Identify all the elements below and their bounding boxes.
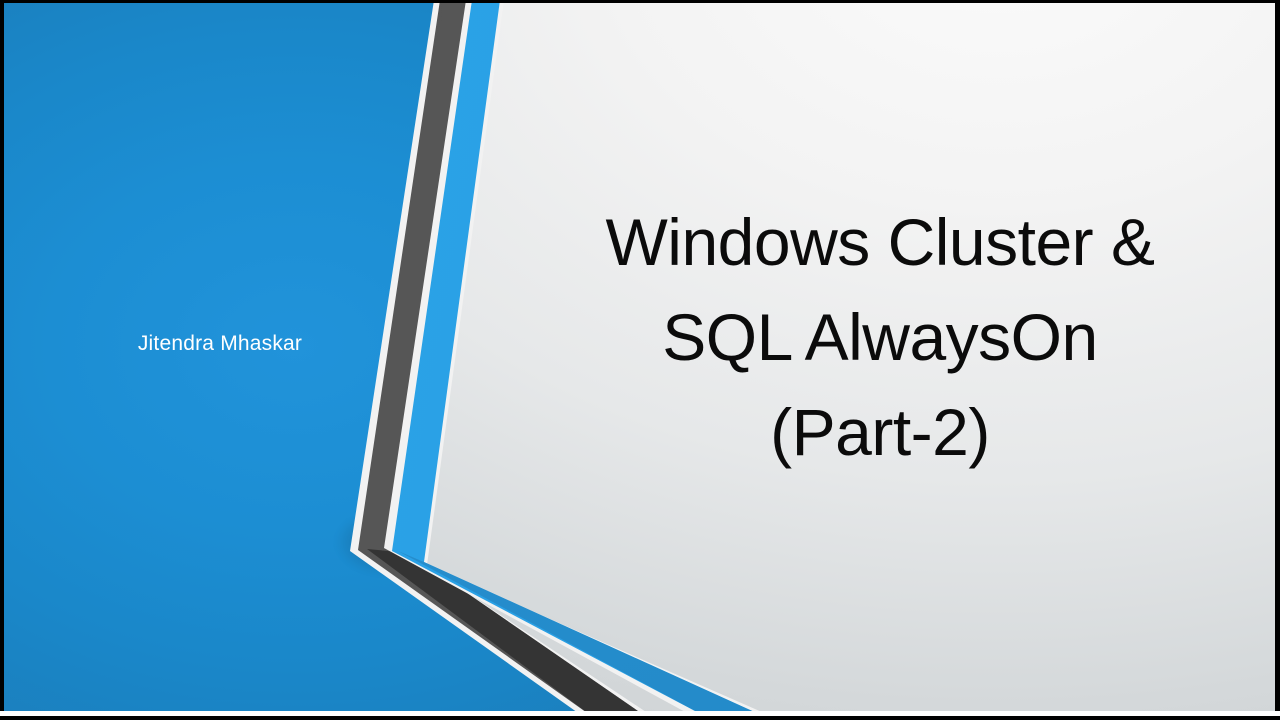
letterbox-right — [1275, 0, 1280, 720]
letterbox-top — [0, 0, 1280, 3]
letterbox-bottom — [0, 716, 1280, 720]
slide-subtitle-author: Jitendra Mhaskar — [40, 330, 400, 358]
slide-title: Windows Cluster & SQL AlwaysOn (Part-2) — [520, 195, 1240, 480]
letterbox-left — [0, 0, 4, 720]
title-slide: Windows Cluster & SQL AlwaysOn (Part-2) … — [0, 0, 1280, 720]
